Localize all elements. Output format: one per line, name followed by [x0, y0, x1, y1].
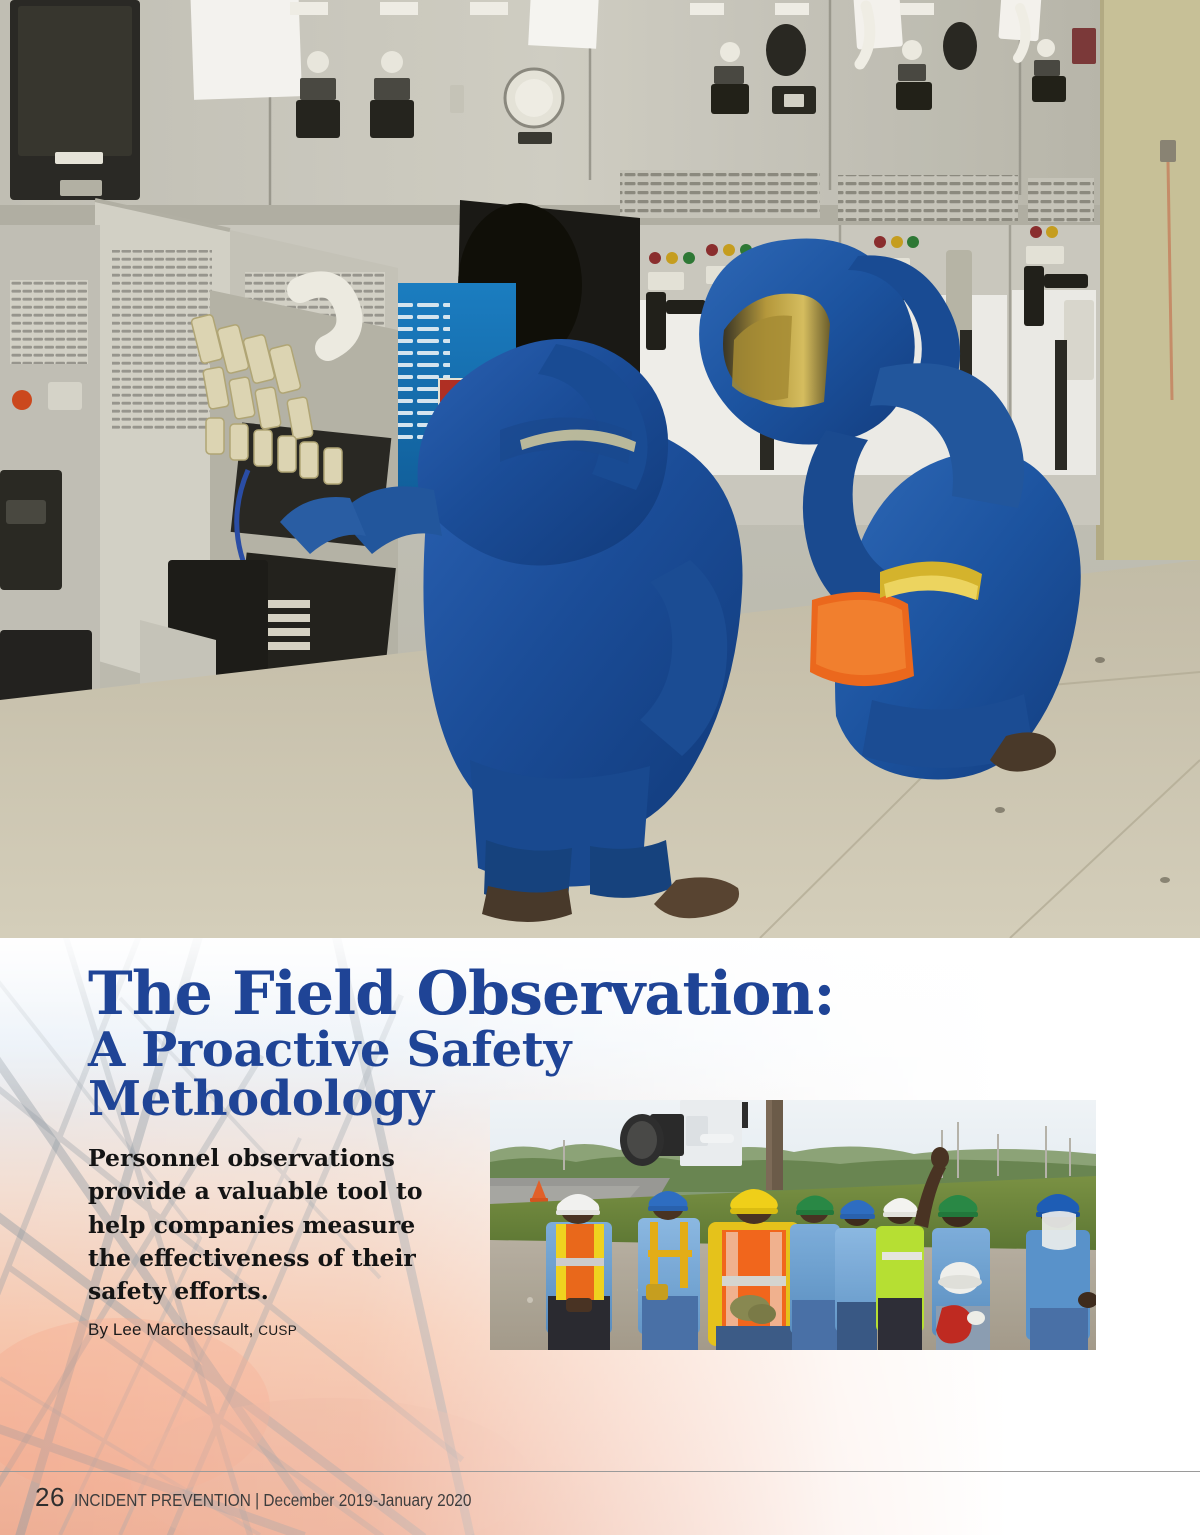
- article-subtitle-line-1: A Proactive Safety: [88, 1026, 948, 1075]
- footer-publication-info: INCIDENT PREVENTION | December 2019-Janu…: [74, 1490, 471, 1511]
- byline-author: By Lee Marchessault,: [88, 1320, 253, 1339]
- article-subtitle: A Proactive Safety Methodology: [88, 1026, 948, 1124]
- article-deck: Personnel observations provide a valuabl…: [88, 1142, 433, 1308]
- byline-credential: CUSP: [258, 1323, 297, 1338]
- magazine-page: The Field Observation: A Proactive Safet…: [0, 0, 1200, 1535]
- footer-page-number: 26: [35, 1482, 65, 1513]
- article-headline-block: The Field Observation: A Proactive Safet…: [88, 965, 948, 1340]
- article-subtitle-line-2: Methodology: [88, 1075, 948, 1124]
- hero-photo-switchgear: [0, 0, 1200, 938]
- lower-section: The Field Observation: A Proactive Safet…: [0, 938, 1200, 1535]
- article-title: The Field Observation:: [88, 965, 948, 1024]
- page-footer: 26 INCIDENT PREVENTION | December 2019-J…: [35, 1482, 526, 1513]
- article-byline: By Lee Marchessault, CUSP: [88, 1320, 948, 1340]
- footer-divider-rule: [0, 1471, 1200, 1472]
- hero-photo-illustration: [0, 0, 1200, 938]
